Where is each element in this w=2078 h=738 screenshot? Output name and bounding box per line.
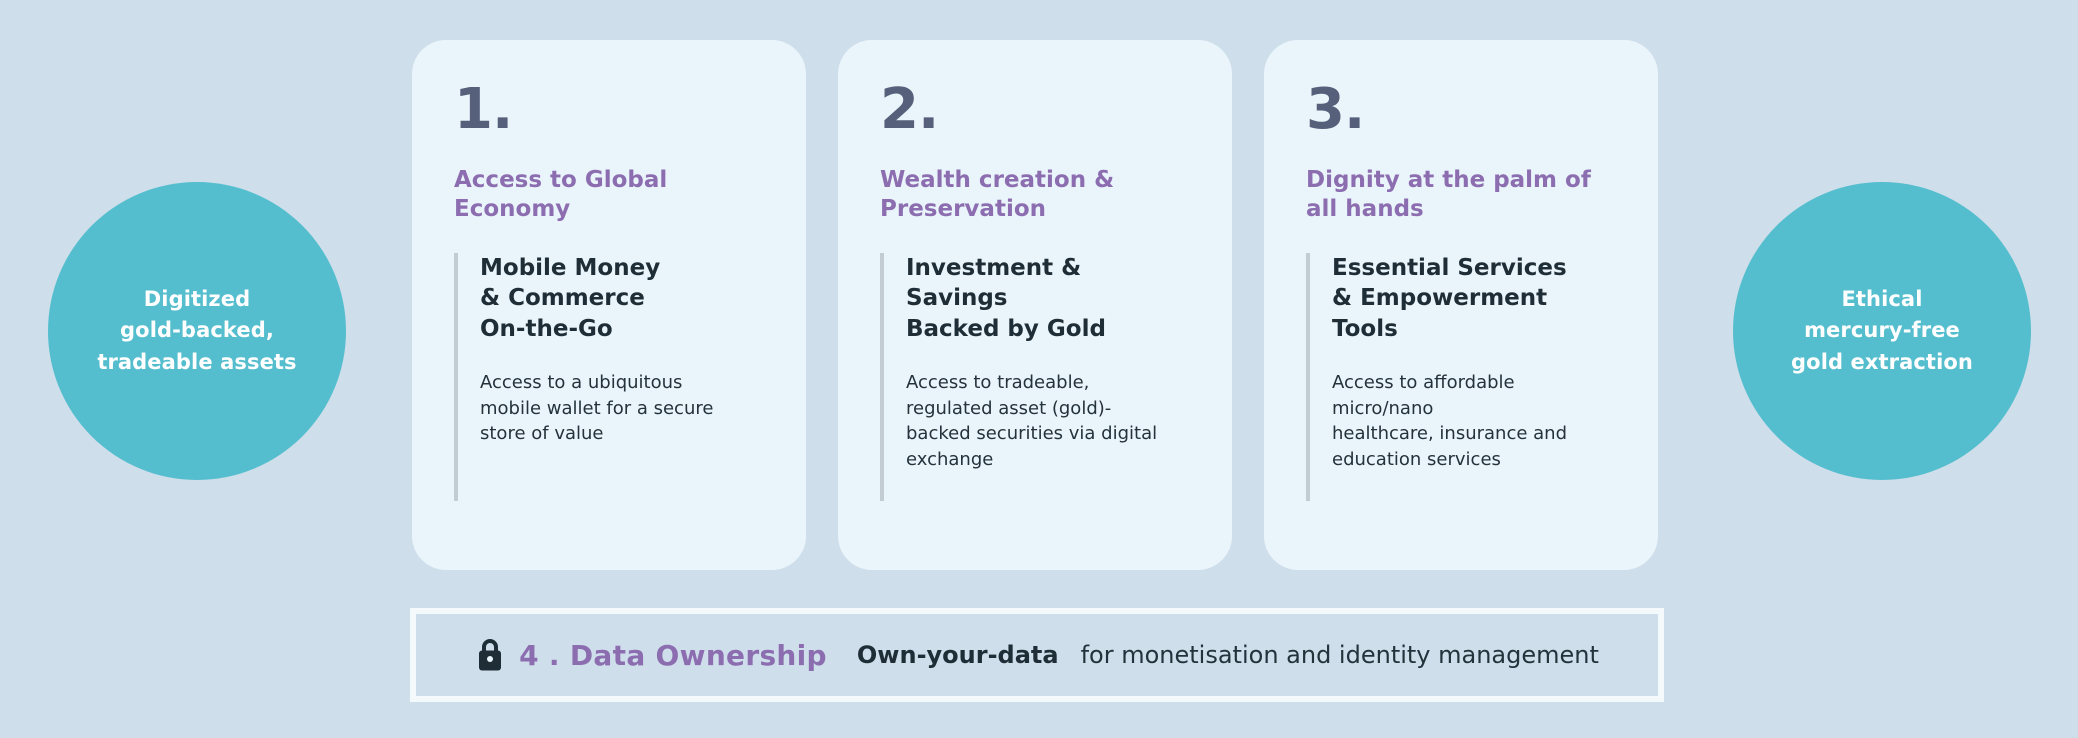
- data-ownership-bar-content: 4 . Data Ownership Own-your-data for mon…: [475, 638, 1599, 672]
- pillar-body-desc-3: Access to affordable micro/nano healthca…: [1332, 370, 1616, 472]
- pillar-card-3: 3. Dignity at the palm of all hands Esse…: [1264, 40, 1658, 570]
- left-circle-label: Digitized gold-backed, tradeable assets: [97, 284, 296, 379]
- pillar-body-title-1: Mobile Money & Commerce On-the-Go: [480, 253, 764, 344]
- lock-icon: [475, 638, 505, 672]
- right-circle-badge: Ethical mercury-free gold extraction: [1733, 182, 2031, 480]
- pillar-heading-3: Dignity at the palm of all hands: [1306, 166, 1616, 225]
- right-circle-label: Ethical mercury-free gold extraction: [1791, 284, 1973, 379]
- pillar-number-3: 3.: [1306, 82, 1616, 138]
- pillar-body-1: Mobile Money & Commerce On-the-Go Access…: [454, 253, 764, 501]
- pillar-number-2: 2.: [880, 82, 1190, 138]
- pillar-heading-2: Wealth creation & Preservation: [880, 166, 1190, 225]
- pillar-body-title-3: Essential Services & Empowerment Tools: [1332, 253, 1616, 344]
- left-circle-badge: Digitized gold-backed, tradeable assets: [48, 182, 346, 480]
- pillar-body-desc-1: Access to a ubiquitous mobile wallet for…: [480, 370, 764, 447]
- pillar-card-1: 1. Access to Global Economy Mobile Money…: [412, 40, 806, 570]
- data-ownership-rest: for monetisation and identity management: [1081, 641, 1599, 669]
- pillar-heading-1: Access to Global Economy: [454, 166, 764, 225]
- pillar-number-1: 1.: [454, 82, 764, 138]
- data-ownership-strong: Own-your-data: [857, 641, 1059, 669]
- pillar-body-3: Essential Services & Empowerment Tools A…: [1306, 253, 1616, 501]
- data-ownership-bar: 4 . Data Ownership Own-your-data for mon…: [410, 608, 1664, 702]
- infographic-stage: Digitized gold-backed, tradeable assets …: [0, 0, 2078, 738]
- data-ownership-label: 4 . Data Ownership: [519, 639, 827, 672]
- pillar-body-2: Investment & Savings Backed by Gold Acce…: [880, 253, 1190, 501]
- pillar-body-desc-2: Access to tradeable, regulated asset (go…: [906, 370, 1190, 472]
- pillar-body-title-2: Investment & Savings Backed by Gold: [906, 253, 1190, 344]
- pillar-card-2: 2. Wealth creation & Preservation Invest…: [838, 40, 1232, 570]
